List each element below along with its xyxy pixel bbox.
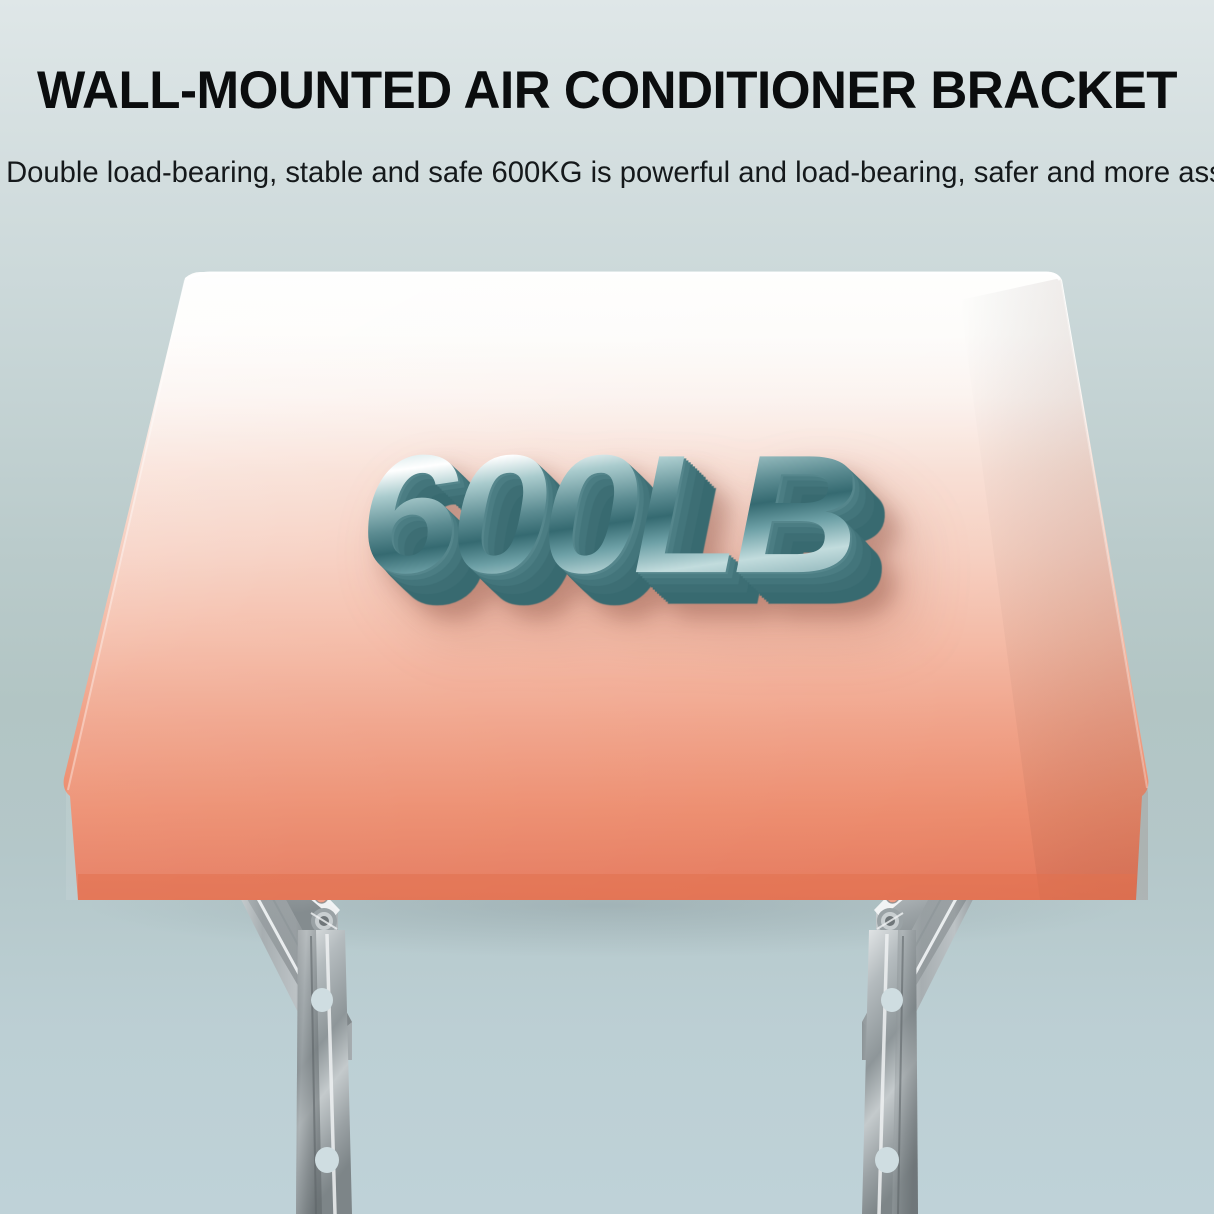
bracket-left-wall-post <box>296 930 352 1214</box>
bracket-left-hole <box>311 988 333 1012</box>
bracket-right-wall-post <box>862 930 918 1214</box>
air-conditioner-unit <box>64 272 1149 900</box>
page-title: WALL-MOUNTED AIR CONDITIONER BRACKET <box>21 62 1193 120</box>
page-subtitle: Double load-bearing, stable and safe 600… <box>6 155 1208 191</box>
bracket-right-hole <box>875 1147 899 1173</box>
bracket-left-hole <box>315 1147 339 1173</box>
bracket-right-hole <box>881 988 903 1012</box>
product-marketing-image: 600LB WALL-MOUNTED AIR CONDITIONER BRACK… <box>0 0 1214 1214</box>
